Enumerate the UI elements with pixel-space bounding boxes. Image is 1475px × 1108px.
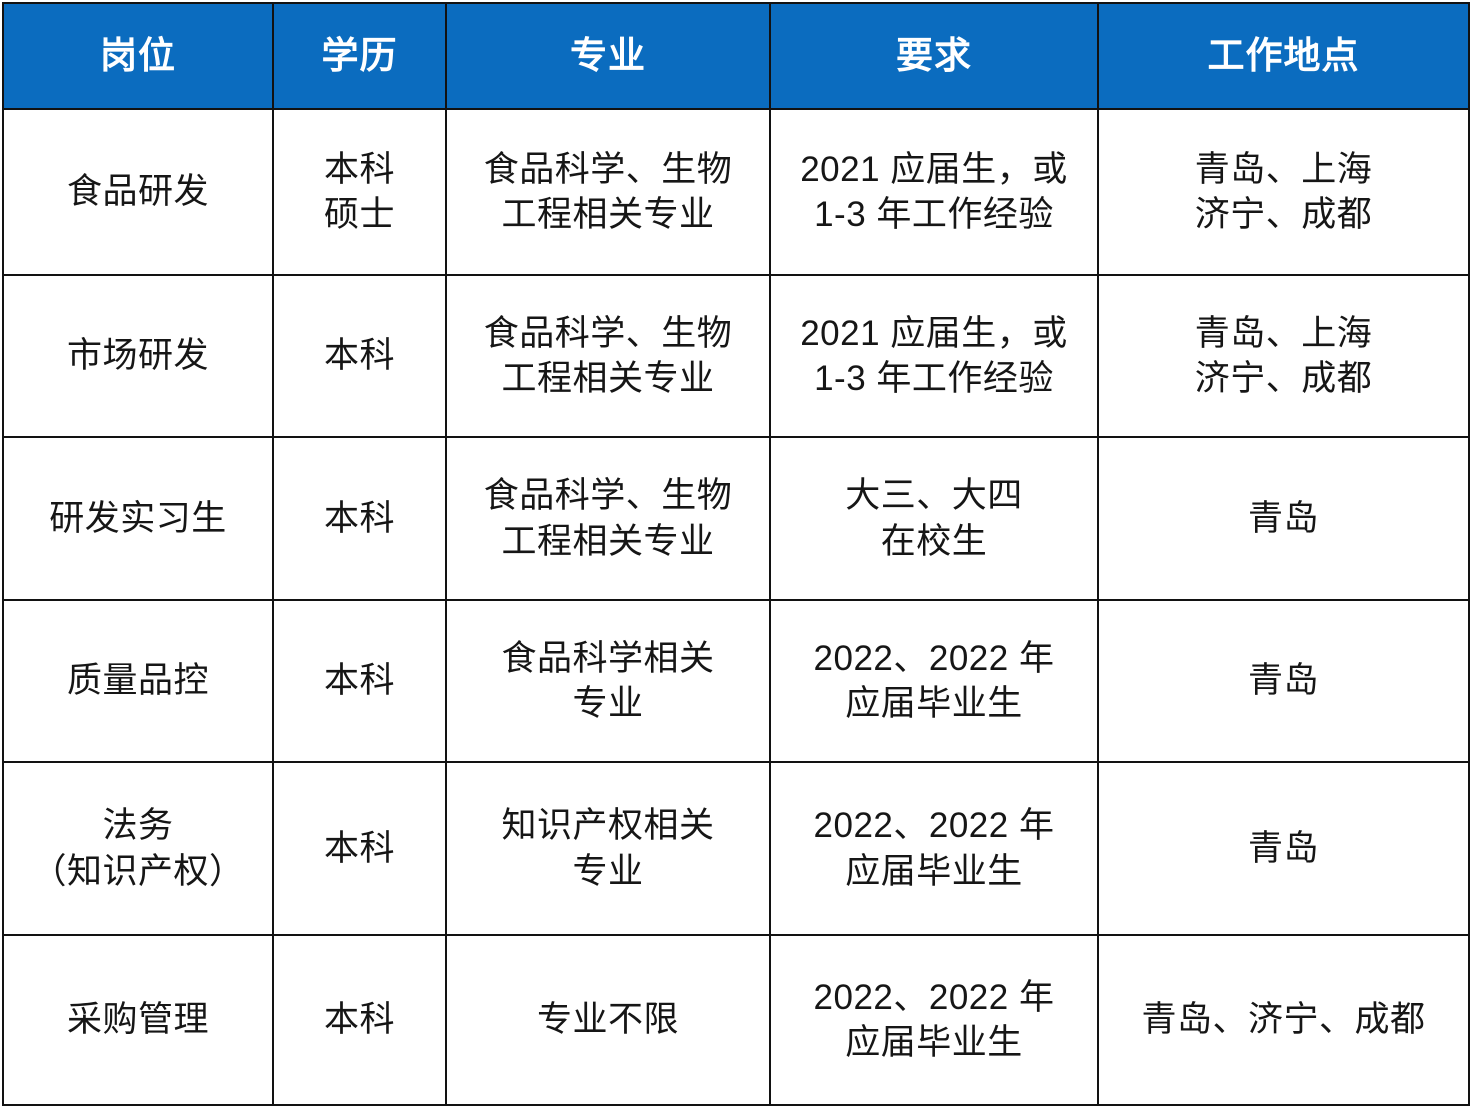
cell-line: 工程相关专业	[453, 519, 763, 565]
cell-line: 食品科学、生物	[453, 311, 763, 357]
cell-line: 本科	[280, 333, 439, 379]
cell-location: 青岛、上海济宁、成都	[1098, 109, 1469, 275]
cell-requirement: 2022、2022 年应届毕业生	[770, 762, 1098, 935]
header-row: 岗位 学历 专业 要求 工作地点	[3, 3, 1469, 109]
cell-line: 研发实习生	[10, 496, 266, 542]
table-row: 采购管理 本科 专业不限 2022、2022 年应届毕业生 青岛、济宁、成都	[3, 935, 1469, 1105]
cell-line: 本科	[280, 147, 439, 193]
cell-degree: 本科硕士	[273, 109, 446, 275]
table-row: 法务（知识产权） 本科 知识产权相关专业 2022、2022 年应届毕业生 青岛	[3, 762, 1469, 935]
cell-requirement: 2021 应届生，或1-3 年工作经验	[770, 275, 1098, 437]
cell-post: 研发实习生	[3, 437, 273, 600]
cell-major: 专业不限	[446, 935, 770, 1105]
cell-line: 2022、2022 年	[777, 975, 1091, 1021]
cell-line: 1-3 年工作经验	[777, 356, 1091, 402]
table-row: 研发实习生 本科 食品科学、生物工程相关专业 大三、大四在校生 青岛	[3, 437, 1469, 600]
cell-requirement: 2022、2022 年应届毕业生	[770, 600, 1098, 762]
recruitment-positions-table: 岗位 学历 专业 要求 工作地点 食品研发 本科硕士 食品科学、生物工程相关专业…	[2, 2, 1470, 1106]
cell-line: 食品研发	[10, 169, 266, 215]
cell-requirement: 大三、大四在校生	[770, 437, 1098, 600]
table-header: 岗位 学历 专业 要求 工作地点	[3, 3, 1469, 109]
cell-post: 食品研发	[3, 109, 273, 275]
cell-location: 青岛	[1098, 600, 1469, 762]
cell-line: 本科	[280, 658, 439, 704]
cell-line: 专业	[453, 849, 763, 895]
cell-line: 在校生	[777, 519, 1091, 565]
cell-major: 食品科学、生物工程相关专业	[446, 109, 770, 275]
cell-line: 青岛、济宁、成都	[1105, 997, 1462, 1043]
cell-line: （知识产权）	[10, 849, 266, 895]
cell-line: 应届毕业生	[777, 1020, 1091, 1066]
cell-line: 本科	[280, 496, 439, 542]
cell-location: 青岛、济宁、成都	[1098, 935, 1469, 1105]
cell-post: 质量品控	[3, 600, 273, 762]
cell-line: 采购管理	[10, 997, 266, 1043]
cell-post: 市场研发	[3, 275, 273, 437]
job-table-container: 岗位 学历 专业 要求 工作地点 食品研发 本科硕士 食品科学、生物工程相关专业…	[0, 0, 1475, 1108]
column-header-major: 专业	[446, 3, 770, 109]
cell-post: 法务（知识产权）	[3, 762, 273, 935]
cell-line: 济宁、成都	[1105, 192, 1462, 238]
cell-line: 2021 应届生，或	[777, 311, 1091, 357]
cell-degree: 本科	[273, 275, 446, 437]
cell-requirement: 2021 应届生，或1-3 年工作经验	[770, 109, 1098, 275]
cell-line: 质量品控	[10, 658, 266, 704]
cell-line: 青岛、上海	[1105, 147, 1462, 193]
cell-line: 2022、2022 年	[777, 636, 1091, 682]
cell-line: 硕士	[280, 192, 439, 238]
cell-line: 法务	[10, 803, 266, 849]
cell-line: 应届毕业生	[777, 849, 1091, 895]
cell-line: 青岛	[1105, 496, 1462, 542]
cell-line: 本科	[280, 997, 439, 1043]
cell-degree: 本科	[273, 935, 446, 1105]
cell-line: 济宁、成都	[1105, 356, 1462, 402]
cell-degree: 本科	[273, 762, 446, 935]
cell-major: 知识产权相关专业	[446, 762, 770, 935]
cell-degree: 本科	[273, 600, 446, 762]
table-row: 市场研发 本科 食品科学、生物工程相关专业 2021 应届生，或1-3 年工作经…	[3, 275, 1469, 437]
cell-major: 食品科学相关专业	[446, 600, 770, 762]
cell-post: 采购管理	[3, 935, 273, 1105]
cell-line: 大三、大四	[777, 473, 1091, 519]
cell-line: 2021 应届生，或	[777, 147, 1091, 193]
table-row: 质量品控 本科 食品科学相关专业 2022、2022 年应届毕业生 青岛	[3, 600, 1469, 762]
column-header-post: 岗位	[3, 3, 273, 109]
cell-line: 食品科学相关	[453, 636, 763, 682]
cell-degree: 本科	[273, 437, 446, 600]
cell-line: 食品科学、生物	[453, 473, 763, 519]
cell-major: 食品科学、生物工程相关专业	[446, 275, 770, 437]
column-header-degree: 学历	[273, 3, 446, 109]
cell-line: 专业	[453, 681, 763, 727]
cell-line: 工程相关专业	[453, 356, 763, 402]
cell-line: 青岛、上海	[1105, 311, 1462, 357]
cell-location: 青岛	[1098, 762, 1469, 935]
table-body: 食品研发 本科硕士 食品科学、生物工程相关专业 2021 应届生，或1-3 年工…	[3, 109, 1469, 1105]
cell-line: 工程相关专业	[453, 192, 763, 238]
cell-major: 食品科学、生物工程相关专业	[446, 437, 770, 600]
column-header-location: 工作地点	[1098, 3, 1469, 109]
cell-location: 青岛	[1098, 437, 1469, 600]
cell-line: 本科	[280, 826, 439, 872]
cell-line: 青岛	[1105, 826, 1462, 872]
cell-line: 知识产权相关	[453, 803, 763, 849]
table-row: 食品研发 本科硕士 食品科学、生物工程相关专业 2021 应届生，或1-3 年工…	[3, 109, 1469, 275]
cell-location: 青岛、上海济宁、成都	[1098, 275, 1469, 437]
cell-line: 应届毕业生	[777, 681, 1091, 727]
cell-requirement: 2022、2022 年应届毕业生	[770, 935, 1098, 1105]
column-header-requirement: 要求	[770, 3, 1098, 109]
cell-line: 市场研发	[10, 333, 266, 379]
cell-line: 1-3 年工作经验	[777, 192, 1091, 238]
cell-line: 食品科学、生物	[453, 147, 763, 193]
cell-line: 青岛	[1105, 658, 1462, 704]
cell-line: 专业不限	[453, 997, 763, 1043]
cell-line: 2022、2022 年	[777, 803, 1091, 849]
